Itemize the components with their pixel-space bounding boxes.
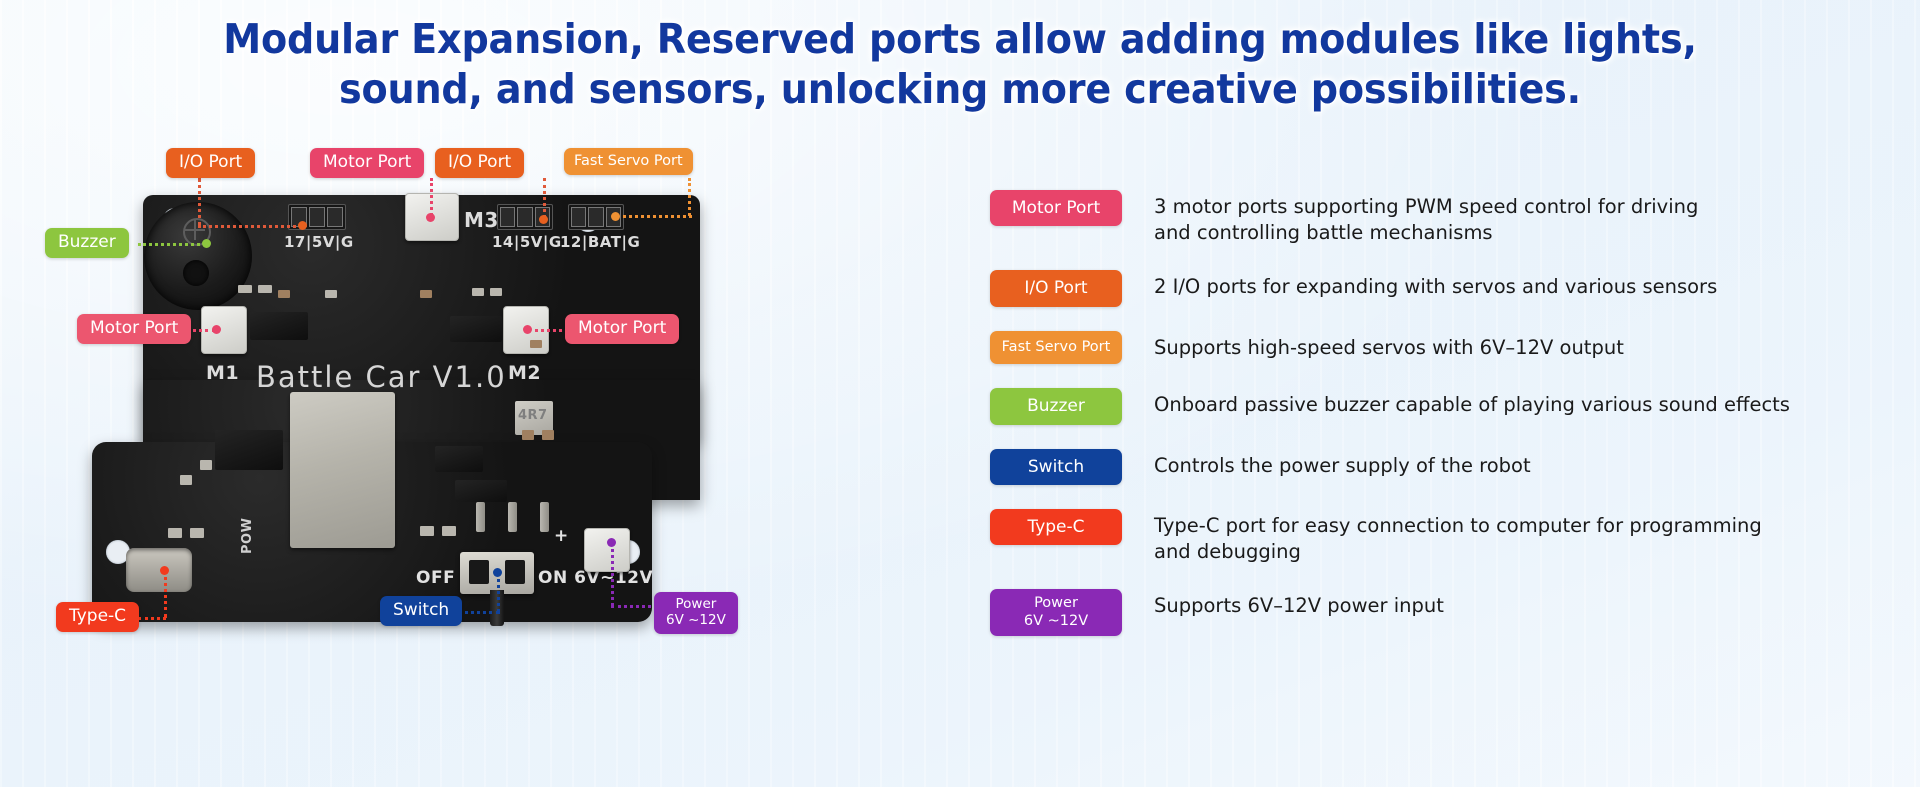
smd-part bbox=[325, 290, 337, 298]
leader-line bbox=[497, 572, 503, 612]
spec-row-fast-servo-port: Fast Servo Port Supports high-speed serv… bbox=[990, 331, 1870, 365]
smd-part bbox=[420, 526, 434, 536]
silk-m2: M2 bbox=[508, 362, 541, 384]
spec-row-io-port: I/O Port 2 I/O ports for expanding with … bbox=[990, 270, 1870, 306]
servo-pin bbox=[476, 502, 485, 532]
servo-pin bbox=[508, 502, 517, 532]
spec-row-power: Power 6V ~12V Supports 6V–12V power inpu… bbox=[990, 589, 1870, 636]
leader-dot bbox=[607, 538, 616, 547]
spec-row-motor-port: Motor Port 3 motor ports supporting PWM … bbox=[990, 190, 1870, 246]
callout-switch[interactable]: Switch bbox=[380, 596, 462, 626]
leader-line bbox=[611, 542, 617, 606]
spec-row-type-c: Type-C Type-C port for easy connection t… bbox=[990, 509, 1870, 565]
ic-chip bbox=[450, 316, 502, 342]
smd-part bbox=[420, 290, 432, 298]
silk-m3: M3 bbox=[464, 208, 499, 232]
leader-dot bbox=[426, 213, 435, 222]
ic-chip bbox=[455, 480, 507, 502]
board-photo: 17|5V|G M3 14|5V|G 12|BAT|G M1 M2 Battle… bbox=[60, 130, 820, 770]
leader-line bbox=[138, 243, 206, 249]
silk-4r7: 4R7 bbox=[518, 408, 548, 423]
spec-text-power: Supports 6V–12V power input bbox=[1154, 589, 1444, 619]
smd-part bbox=[190, 528, 204, 538]
leader-line bbox=[458, 611, 500, 617]
leader-line bbox=[164, 570, 170, 618]
silk-m1: M1 bbox=[206, 362, 239, 384]
smd-part bbox=[522, 430, 534, 440]
spec-chip-motor-port[interactable]: Motor Port bbox=[990, 190, 1122, 226]
spec-chip-buzzer[interactable]: Buzzer bbox=[990, 388, 1122, 424]
smd-part bbox=[168, 528, 182, 538]
leader-dot bbox=[493, 568, 502, 577]
ic-chip bbox=[215, 430, 283, 470]
smd-part bbox=[530, 340, 542, 348]
spec-list: Motor Port 3 motor ports supporting PWM … bbox=[990, 190, 1870, 660]
leader-dot bbox=[298, 221, 307, 230]
smd-part bbox=[238, 285, 252, 293]
smd-part bbox=[258, 285, 272, 293]
callout-power[interactable]: Power 6V ~12V bbox=[654, 592, 738, 634]
leader-line bbox=[430, 178, 436, 216]
leader-line bbox=[688, 178, 694, 216]
leader-dot bbox=[611, 212, 620, 221]
spec-chip-io-port[interactable]: I/O Port bbox=[990, 270, 1122, 306]
spec-text-motor-port: 3 motor ports supporting PWM speed contr… bbox=[1154, 190, 1698, 246]
callout-io-port-top-left[interactable]: I/O Port bbox=[166, 148, 255, 178]
spec-text-type-c: Type-C port for easy connection to compu… bbox=[1154, 509, 1762, 565]
smd-part bbox=[490, 288, 502, 296]
smd-part bbox=[442, 526, 456, 536]
silk-14-5v-g: 14|5V|G bbox=[492, 233, 562, 251]
leader-line bbox=[616, 215, 692, 221]
page-title: Modular Expansion, Reserved ports allow … bbox=[67, 14, 1853, 115]
spec-text-buzzer: Onboard passive buzzer capable of playin… bbox=[1154, 388, 1790, 418]
servo-pin bbox=[540, 502, 549, 532]
smd-part bbox=[200, 460, 212, 470]
spec-text-switch: Controls the power supply of the robot bbox=[1154, 449, 1531, 479]
spec-chip-type-c[interactable]: Type-C bbox=[990, 509, 1122, 545]
leader-line bbox=[611, 605, 657, 611]
ic-chip bbox=[435, 446, 483, 472]
leader-line bbox=[138, 617, 166, 623]
callout-fast-servo-port[interactable]: Fast Servo Port bbox=[564, 148, 693, 175]
callout-io-port-top-right[interactable]: I/O Port bbox=[435, 148, 524, 178]
spec-chip-fast-servo-port[interactable]: Fast Servo Port bbox=[990, 331, 1122, 365]
callout-motor-port-top[interactable]: Motor Port bbox=[310, 148, 424, 178]
spec-chip-switch[interactable]: Switch bbox=[990, 449, 1122, 485]
silk-17-5v-g: 17|5V|G bbox=[284, 233, 354, 251]
callout-type-c[interactable]: Type-C bbox=[56, 602, 139, 632]
smd-part bbox=[472, 288, 484, 296]
smd-part bbox=[542, 430, 554, 440]
silk-12-bat-g: 12|BAT|G bbox=[560, 233, 640, 251]
spec-text-fast-servo-port: Supports high-speed servos with 6V–12V o… bbox=[1154, 331, 1624, 361]
callout-buzzer[interactable]: Buzzer bbox=[45, 228, 129, 258]
leader-dot bbox=[212, 325, 221, 334]
leader-dot bbox=[523, 325, 532, 334]
leader-line bbox=[198, 178, 204, 226]
leader-dot bbox=[160, 566, 169, 575]
power-input-connector bbox=[584, 528, 630, 572]
smd-part bbox=[180, 475, 192, 485]
wifi-module bbox=[290, 392, 395, 548]
spec-row-buzzer: Buzzer Onboard passive buzzer capable of… bbox=[990, 388, 1870, 424]
usb-type-c-port bbox=[126, 548, 192, 592]
smd-part bbox=[278, 290, 290, 298]
silk-pow: POW bbox=[240, 518, 255, 554]
spec-text-io-port: 2 I/O ports for expanding with servos an… bbox=[1154, 270, 1717, 300]
spec-row-switch: Switch Controls the power supply of the … bbox=[990, 449, 1870, 485]
leader-line bbox=[528, 329, 568, 335]
spec-chip-power[interactable]: Power 6V ~12V bbox=[990, 589, 1122, 636]
ic-chip bbox=[250, 312, 308, 340]
leader-line bbox=[543, 178, 549, 218]
leader-dot bbox=[539, 215, 548, 224]
silk-off: OFF bbox=[416, 568, 455, 588]
callout-motor-port-right[interactable]: Motor Port bbox=[565, 314, 679, 344]
leader-line bbox=[198, 225, 302, 231]
callout-motor-port-left[interactable]: Motor Port bbox=[77, 314, 191, 344]
board-brand-text: Battle Car V1.0 bbox=[256, 360, 507, 394]
silk-plus: + bbox=[554, 526, 569, 546]
leader-dot bbox=[202, 239, 211, 248]
